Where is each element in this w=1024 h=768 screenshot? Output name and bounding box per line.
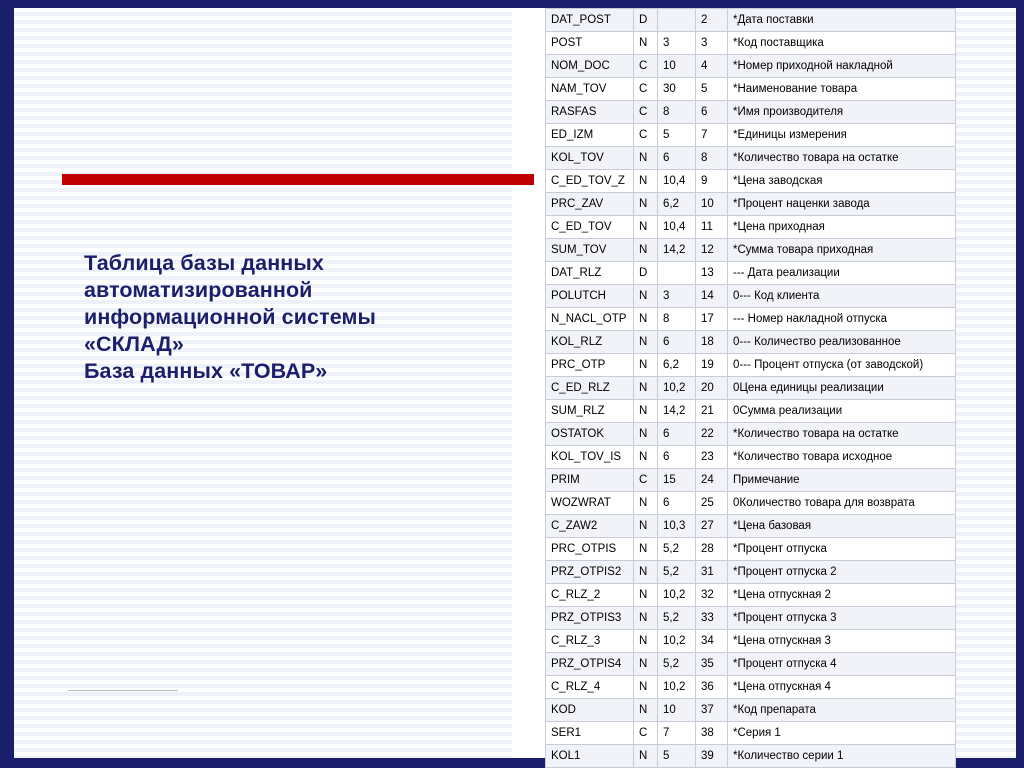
field-length: 10,4 <box>658 170 696 193</box>
table-row: C_RLZ_2N10,232*Цена отпускная 2 <box>546 584 956 607</box>
field-length <box>658 262 696 285</box>
field-description: *Процент наценки завода <box>728 193 956 216</box>
table-row: RASFASC86*Имя производителя <box>546 101 956 124</box>
title-line-3: информационной системы <box>84 304 504 331</box>
field-number: 33 <box>696 607 728 630</box>
field-type: N <box>634 331 658 354</box>
field-description: 0--- Количество реализованное <box>728 331 956 354</box>
field-description: *Серия 1 <box>728 722 956 745</box>
field-length: 10,2 <box>658 377 696 400</box>
table-row: PRZ_OTPIS2N5,231*Процент отпуска 2 <box>546 561 956 584</box>
field-name: KOL_TOV <box>546 147 634 170</box>
table-row: DAT_RLZD13--- Дата реализации <box>546 262 956 285</box>
field-description: *Количество товара на остатке <box>728 423 956 446</box>
field-name: NOM_DOC <box>546 55 634 78</box>
field-number: 2 <box>696 9 728 32</box>
field-length: 10,3 <box>658 515 696 538</box>
field-number: 39 <box>696 745 728 768</box>
field-type: N <box>634 745 658 768</box>
field-name: C_ED_TOV <box>546 216 634 239</box>
field-description: *Процент отпуска 2 <box>728 561 956 584</box>
field-description: 0Сумма реализации <box>728 400 956 423</box>
table-row: PRZ_OTPIS3N5,233*Процент отпуска 3 <box>546 607 956 630</box>
field-number: 24 <box>696 469 728 492</box>
field-length: 14,2 <box>658 400 696 423</box>
field-type: N <box>634 193 658 216</box>
field-length: 5,2 <box>658 653 696 676</box>
field-description: *Имя производителя <box>728 101 956 124</box>
table-row: N_NACL_OTPN817--- Номер накладной отпуск… <box>546 308 956 331</box>
table-row: C_RLZ_3N10,234*Цена отпускная 3 <box>546 630 956 653</box>
field-length: 10,4 <box>658 216 696 239</box>
field-number: 10 <box>696 193 728 216</box>
field-type: C <box>634 101 658 124</box>
field-type: C <box>634 722 658 745</box>
field-number: 31 <box>696 561 728 584</box>
field-description: *Номер приходной накладной <box>728 55 956 78</box>
table-row: PRC_OTPISN5,228*Процент отпуска <box>546 538 956 561</box>
field-length: 6 <box>658 423 696 446</box>
field-type: N <box>634 653 658 676</box>
table-row: OSTATOKN622*Количество товара на остатке <box>546 423 956 446</box>
field-length: 30 <box>658 78 696 101</box>
field-name: PRC_ZAV <box>546 193 634 216</box>
field-description: *Цена приходная <box>728 216 956 239</box>
field-length: 10,2 <box>658 676 696 699</box>
field-number: 25 <box>696 492 728 515</box>
field-number: 38 <box>696 722 728 745</box>
field-type: N <box>634 170 658 193</box>
field-name: KOD <box>546 699 634 722</box>
table-row: DAT_POSTD2*Дата поставки <box>546 9 956 32</box>
field-name: POST <box>546 32 634 55</box>
field-type: N <box>634 308 658 331</box>
table-row: KODN1037*Код препарата <box>546 699 956 722</box>
field-number: 34 <box>696 630 728 653</box>
title-line-5: База данных «ТОВАР» <box>84 358 504 385</box>
db-table-body: DAT_POSTD2*Дата поставкиPOSTN33*Код пост… <box>546 9 956 768</box>
field-name: KOL_RLZ <box>546 331 634 354</box>
field-length: 8 <box>658 308 696 331</box>
database-fields-table: DAT_POSTD2*Дата поставкиPOSTN33*Код пост… <box>545 8 955 768</box>
field-length: 6 <box>658 446 696 469</box>
field-type: N <box>634 423 658 446</box>
field-name: SER1 <box>546 722 634 745</box>
field-name: DAT_RLZ <box>546 262 634 285</box>
field-description: 0--- Код клиента <box>728 285 956 308</box>
field-length: 14,2 <box>658 239 696 262</box>
field-description: *Цена отпускная 4 <box>728 676 956 699</box>
field-number: 6 <box>696 101 728 124</box>
table-row: KOL_TOV_ISN623*Количество товара исходно… <box>546 446 956 469</box>
field-description: *Процент отпуска 4 <box>728 653 956 676</box>
field-number: 5 <box>696 78 728 101</box>
field-name: PRC_OTPIS <box>546 538 634 561</box>
table-row: SER1C738*Серия 1 <box>546 722 956 745</box>
table-row: NOM_DOCC104*Номер приходной накладной <box>546 55 956 78</box>
field-number: 13 <box>696 262 728 285</box>
field-length: 6 <box>658 492 696 515</box>
field-length: 6 <box>658 331 696 354</box>
field-type: N <box>634 607 658 630</box>
field-type: N <box>634 239 658 262</box>
field-number: 20 <box>696 377 728 400</box>
field-length: 10 <box>658 699 696 722</box>
field-type: D <box>634 262 658 285</box>
field-description: *Количество серии 1 <box>728 745 956 768</box>
field-type: N <box>634 561 658 584</box>
field-number: 7 <box>696 124 728 147</box>
field-type: N <box>634 492 658 515</box>
table-row: KOL_TOVN68*Количество товара на остатке <box>546 147 956 170</box>
table-row: C_ZAW2N10,327*Цена базовая <box>546 515 956 538</box>
field-type: N <box>634 285 658 308</box>
field-length: 10 <box>658 55 696 78</box>
table-row: KOL_RLZN6180--- Количество реализованное <box>546 331 956 354</box>
field-number: 17 <box>696 308 728 331</box>
field-name: KOL_TOV_IS <box>546 446 634 469</box>
field-type: N <box>634 676 658 699</box>
field-description: *Сумма товара приходная <box>728 239 956 262</box>
field-name: C_RLZ_4 <box>546 676 634 699</box>
table-row: PRC_OTPN6,2190--- Процент отпуска (от за… <box>546 354 956 377</box>
field-number: 21 <box>696 400 728 423</box>
title-line-2: автоматизированной <box>84 277 504 304</box>
field-type: N <box>634 538 658 561</box>
table-row: C_ED_RLZN10,2200Цена единицы реализации <box>546 377 956 400</box>
field-type: C <box>634 124 658 147</box>
field-length <box>658 9 696 32</box>
field-number: 23 <box>696 446 728 469</box>
field-length: 6,2 <box>658 193 696 216</box>
table-row: C_ED_TOV_ZN10,49*Цена заводская <box>546 170 956 193</box>
red-accent-bar <box>62 174 534 185</box>
field-number: 19 <box>696 354 728 377</box>
field-length: 8 <box>658 101 696 124</box>
field-name: PRZ_OTPIS2 <box>546 561 634 584</box>
field-description: *Код препарата <box>728 699 956 722</box>
table-row: POSTN33*Код поставщика <box>546 32 956 55</box>
field-type: C <box>634 55 658 78</box>
field-description: *Цена отпускная 3 <box>728 630 956 653</box>
field-number: 37 <box>696 699 728 722</box>
field-name: OSTATOK <box>546 423 634 446</box>
field-name: WOZWRAT <box>546 492 634 515</box>
field-number: 18 <box>696 331 728 354</box>
field-length: 7 <box>658 722 696 745</box>
field-description: 0--- Процент отпуска (от заводской) <box>728 354 956 377</box>
field-length: 6 <box>658 147 696 170</box>
field-name: N_NACL_OTP <box>546 308 634 331</box>
table-row: PRZ_OTPIS4N5,235*Процент отпуска 4 <box>546 653 956 676</box>
field-type: N <box>634 377 658 400</box>
title-line-4: «СКЛАД» <box>84 331 504 358</box>
field-length: 5 <box>658 124 696 147</box>
field-description: *Процент отпуска 3 <box>728 607 956 630</box>
field-description: --- Дата реализации <box>728 262 956 285</box>
field-name: RASFAS <box>546 101 634 124</box>
field-name: C_ZAW2 <box>546 515 634 538</box>
field-description: *Процент отпуска <box>728 538 956 561</box>
field-number: 14 <box>696 285 728 308</box>
field-description: 0Цена единицы реализации <box>728 377 956 400</box>
frame-right-border <box>1016 0 1024 768</box>
field-number: 28 <box>696 538 728 561</box>
slide-title: Таблица базы данных автоматизированной и… <box>84 250 504 385</box>
field-number: 35 <box>696 653 728 676</box>
field-description: *Наименование товара <box>728 78 956 101</box>
field-description: *Единицы измерения <box>728 124 956 147</box>
field-description: *Цена базовая <box>728 515 956 538</box>
field-name: C_RLZ_2 <box>546 584 634 607</box>
field-name: PRZ_OTPIS3 <box>546 607 634 630</box>
table-row: ED_IZMC57*Единицы измерения <box>546 124 956 147</box>
field-name: DAT_POST <box>546 9 634 32</box>
field-number: 27 <box>696 515 728 538</box>
frame-left-border <box>0 0 14 768</box>
field-number: 4 <box>696 55 728 78</box>
field-description: *Количество товара исходное <box>728 446 956 469</box>
field-length: 6,2 <box>658 354 696 377</box>
field-name: SUM_TOV <box>546 239 634 262</box>
field-length: 10,2 <box>658 584 696 607</box>
table-row: POLUTCHN3140--- Код клиента <box>546 285 956 308</box>
field-number: 8 <box>696 147 728 170</box>
field-description: *Цена отпускная 2 <box>728 584 956 607</box>
field-number: 22 <box>696 423 728 446</box>
field-name: NAM_TOV <box>546 78 634 101</box>
table-row: C_ED_TOVN10,411*Цена приходная <box>546 216 956 239</box>
field-type: C <box>634 469 658 492</box>
field-type: N <box>634 515 658 538</box>
field-length: 3 <box>658 285 696 308</box>
field-name: PRZ_OTPIS4 <box>546 653 634 676</box>
title-line-1: Таблица базы данных <box>84 250 504 277</box>
field-description: *Количество товара на остатке <box>728 147 956 170</box>
table-row: SUM_TOVN14,212*Сумма товара приходная <box>546 239 956 262</box>
field-number: 36 <box>696 676 728 699</box>
field-description: Примечание <box>728 469 956 492</box>
slide-canvas: Таблица базы данных автоматизированной и… <box>0 0 1024 768</box>
grey-divider-rule <box>68 690 178 691</box>
field-length: 5,2 <box>658 607 696 630</box>
field-length: 5,2 <box>658 538 696 561</box>
table-row: PRIMC1524Примечание <box>546 469 956 492</box>
field-type: C <box>634 78 658 101</box>
table-row: WOZWRATN6250Количество товара для возвра… <box>546 492 956 515</box>
field-type: N <box>634 400 658 423</box>
right-striped-panel <box>955 8 1016 758</box>
field-number: 12 <box>696 239 728 262</box>
field-length: 3 <box>658 32 696 55</box>
field-name: POLUTCH <box>546 285 634 308</box>
table-row: NAM_TOVC305*Наименование товара <box>546 78 956 101</box>
field-description: *Цена заводская <box>728 170 956 193</box>
field-type: N <box>634 354 658 377</box>
field-name: PRC_OTP <box>546 354 634 377</box>
field-description: *Код поставщика <box>728 32 956 55</box>
field-type: N <box>634 32 658 55</box>
field-name: C_ED_RLZ <box>546 377 634 400</box>
field-type: N <box>634 216 658 239</box>
frame-top-border <box>0 0 1024 8</box>
field-number: 11 <box>696 216 728 239</box>
field-type: N <box>634 630 658 653</box>
field-description: --- Номер накладной отпуска <box>728 308 956 331</box>
field-length: 10,2 <box>658 630 696 653</box>
db-table: DAT_POSTD2*Дата поставкиPOSTN33*Код пост… <box>545 8 956 768</box>
field-name: PRIM <box>546 469 634 492</box>
field-number: 3 <box>696 32 728 55</box>
field-type: N <box>634 584 658 607</box>
field-name: KOL1 <box>546 745 634 768</box>
field-length: 5,2 <box>658 561 696 584</box>
field-type: N <box>634 147 658 170</box>
field-name: ED_IZM <box>546 124 634 147</box>
field-type: N <box>634 446 658 469</box>
field-length: 5 <box>658 745 696 768</box>
field-name: C_RLZ_3 <box>546 630 634 653</box>
field-number: 9 <box>696 170 728 193</box>
table-row: C_RLZ_4N10,236*Цена отпускная 4 <box>546 676 956 699</box>
table-row: KOL1N539*Количество серии 1 <box>546 745 956 768</box>
field-type: N <box>634 699 658 722</box>
field-type: D <box>634 9 658 32</box>
field-description: 0Количество товара для возврата <box>728 492 956 515</box>
field-number: 32 <box>696 584 728 607</box>
field-name: SUM_RLZ <box>546 400 634 423</box>
field-length: 15 <box>658 469 696 492</box>
table-row: PRC_ZAVN6,210*Процент наценки завода <box>546 193 956 216</box>
field-description: *Дата поставки <box>728 9 956 32</box>
field-name: C_ED_TOV_Z <box>546 170 634 193</box>
table-row: SUM_RLZN14,2210Сумма реализации <box>546 400 956 423</box>
